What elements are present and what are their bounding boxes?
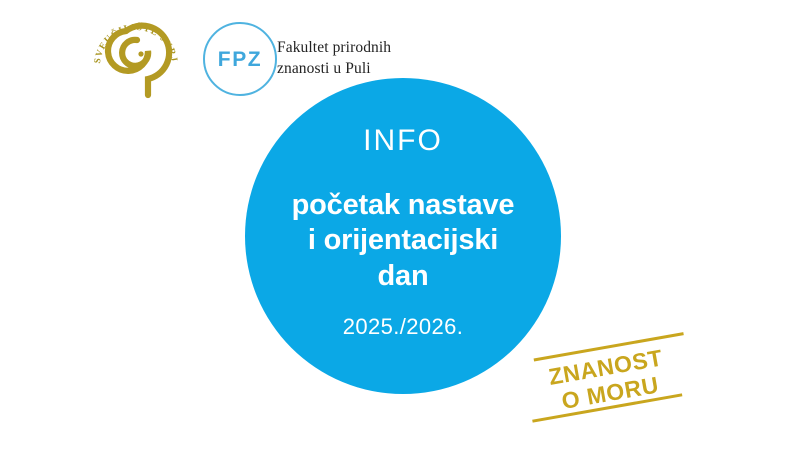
info-headline-line-1: početak nastave xyxy=(245,188,561,223)
university-logo: SVEUČILIŠTE JURJA DOBRILE U PULI xyxy=(88,14,184,106)
poster-canvas: SVEUČILIŠTE JURJA DOBRILE U PULI FPZ Fak… xyxy=(0,0,800,450)
academic-year: 2025./2026. xyxy=(245,316,561,338)
faculty-name-line-2: znanosti u Puli xyxy=(277,58,467,79)
faculty-name-line-1: Fakultet prirodnih xyxy=(277,37,467,58)
info-headline-line-2: i orijentacijski xyxy=(245,223,561,258)
fpz-logo-label: FPZ xyxy=(218,49,262,70)
spiral-logo-icon: SVEUČILIŠTE JURJA DOBRILE U PULI xyxy=(88,14,184,106)
info-kicker: INFO xyxy=(245,126,561,156)
info-headline: početak nastave i orijentacijski dan xyxy=(245,188,561,294)
fpz-logo-mark: FPZ xyxy=(203,22,277,96)
faculty-name: Fakultet prirodnih znanosti u Puli xyxy=(277,37,467,80)
info-headline-line-3: dan xyxy=(245,259,561,294)
